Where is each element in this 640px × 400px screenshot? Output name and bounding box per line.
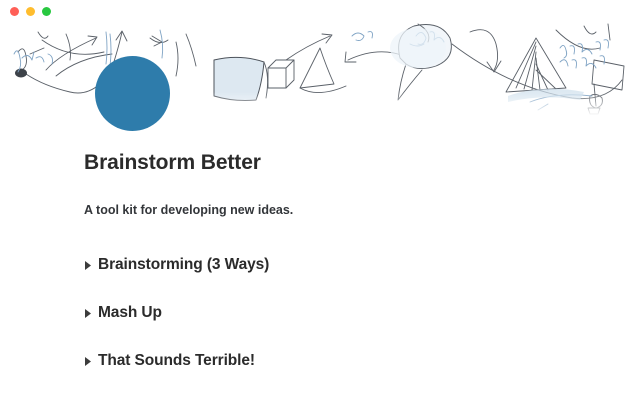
page-title: Brainstorm Better bbox=[84, 150, 604, 176]
list-item[interactable]: Brainstorming (3 Ways) bbox=[84, 241, 604, 289]
chevron-right-icon[interactable] bbox=[84, 357, 98, 366]
app-window: Brainstorm Better A tool kit for develop… bbox=[0, 0, 640, 400]
page-content: Brainstorm Better A tool kit for develop… bbox=[84, 150, 604, 385]
page-subtitle: A tool kit for developing new ideas. bbox=[84, 176, 604, 219]
list-item-label: Mash Up bbox=[98, 303, 162, 323]
list-item-label: That Sounds Terrible! bbox=[98, 351, 255, 371]
minimize-button-icon[interactable] bbox=[26, 7, 35, 16]
avatar bbox=[95, 56, 170, 131]
maximize-button-icon[interactable] bbox=[42, 7, 51, 16]
chevron-right-icon[interactable] bbox=[84, 309, 98, 318]
window-controls bbox=[10, 7, 51, 16]
list-item[interactable]: That Sounds Terrible! bbox=[84, 337, 604, 385]
window-titlebar bbox=[0, 0, 640, 22]
chevron-right-icon[interactable] bbox=[84, 261, 98, 270]
close-button-icon[interactable] bbox=[10, 7, 19, 16]
table-of-contents: Brainstorming (3 Ways) Mash Up That Soun… bbox=[84, 219, 604, 385]
list-item-label: Brainstorming (3 Ways) bbox=[98, 255, 269, 275]
list-item[interactable]: Mash Up bbox=[84, 289, 604, 337]
